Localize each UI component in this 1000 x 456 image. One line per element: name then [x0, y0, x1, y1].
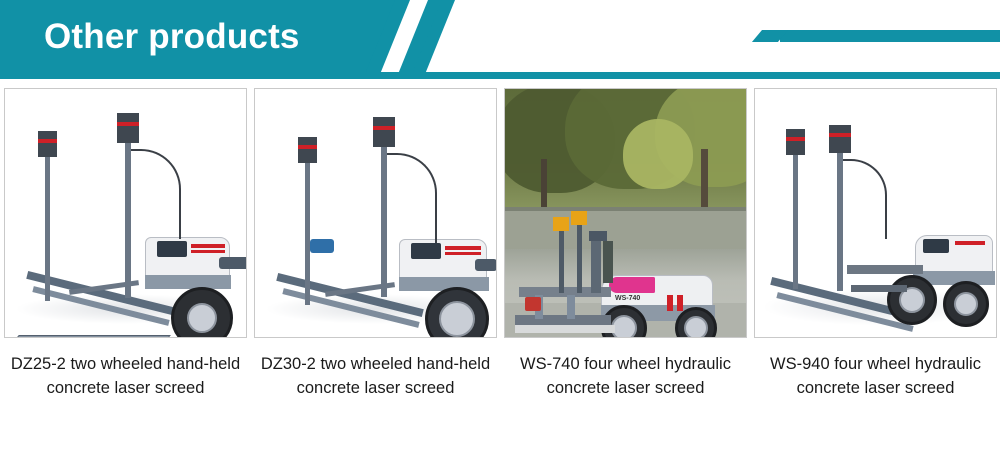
product-caption: DZ30-2 two wheeled hand-held concrete la… [254, 352, 497, 400]
product-caption: WS-940 four wheel hydraulic concrete las… [754, 352, 997, 400]
ws-940-product-photo [754, 88, 997, 338]
header-right-bar [780, 30, 1000, 42]
product-caption: WS-740 four wheel hydraulic concrete las… [504, 352, 747, 400]
product-card-ws-740[interactable]: WS-740 [504, 88, 747, 400]
product-card-ws-940[interactable]: WS-940 four wheel hydraulic concrete las… [754, 88, 997, 400]
header-banner: Other products [0, 0, 1000, 72]
dz30-2-product-photo [254, 88, 497, 338]
header-underline [0, 72, 1000, 79]
product-showcase-page: Other products [0, 0, 1000, 456]
dz25-2-product-photo [4, 88, 247, 338]
product-card-dz25-2[interactable]: DZ25-2 two wheeled hand-held concrete la… [4, 88, 247, 400]
product-card-dz30-2[interactable]: DZ30-2 two wheeled hand-held concrete la… [254, 88, 497, 400]
product-grid: DZ25-2 two wheeled hand-held concrete la… [0, 88, 1000, 400]
product-caption: DZ25-2 two wheeled hand-held concrete la… [4, 352, 247, 400]
ws-740-product-photo: WS-740 [504, 88, 747, 338]
page-title: Other products [44, 16, 300, 58]
